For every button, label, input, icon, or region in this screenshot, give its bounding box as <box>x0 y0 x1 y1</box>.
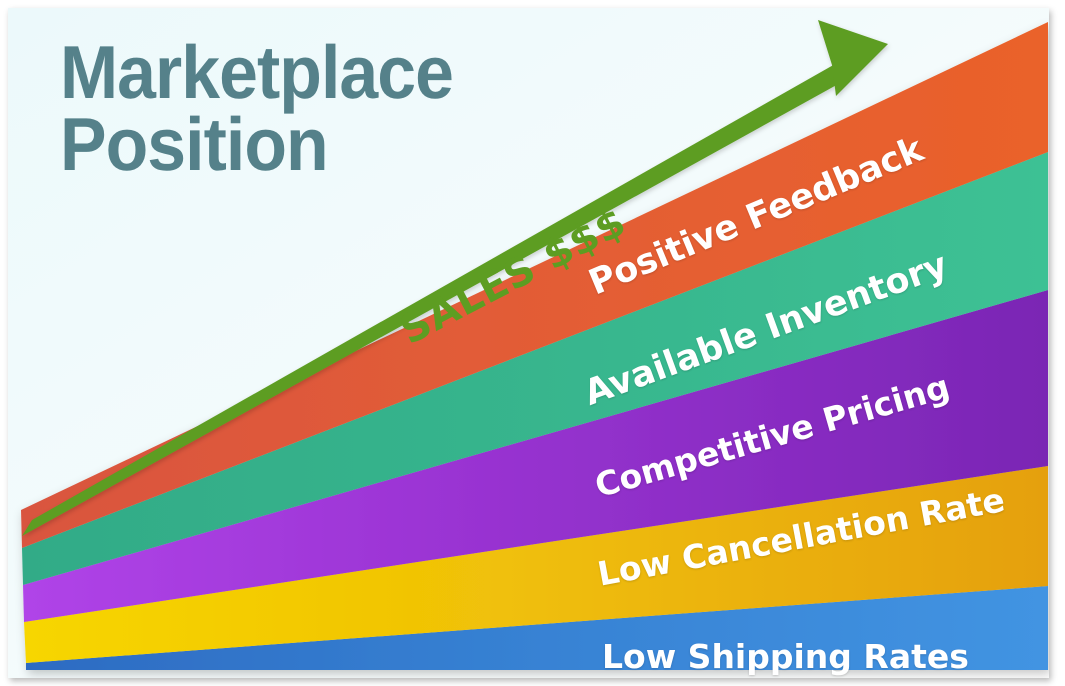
page-title: Marketplace Position <box>60 36 488 180</box>
infographic-canvas: Marketplace Position SALES $$$ Positive … <box>8 8 1049 678</box>
infographic-root: Marketplace Position SALES $$$ Positive … <box>0 0 1065 686</box>
band-label-low-shipping-rates: Low Shipping Rates <box>602 637 969 676</box>
